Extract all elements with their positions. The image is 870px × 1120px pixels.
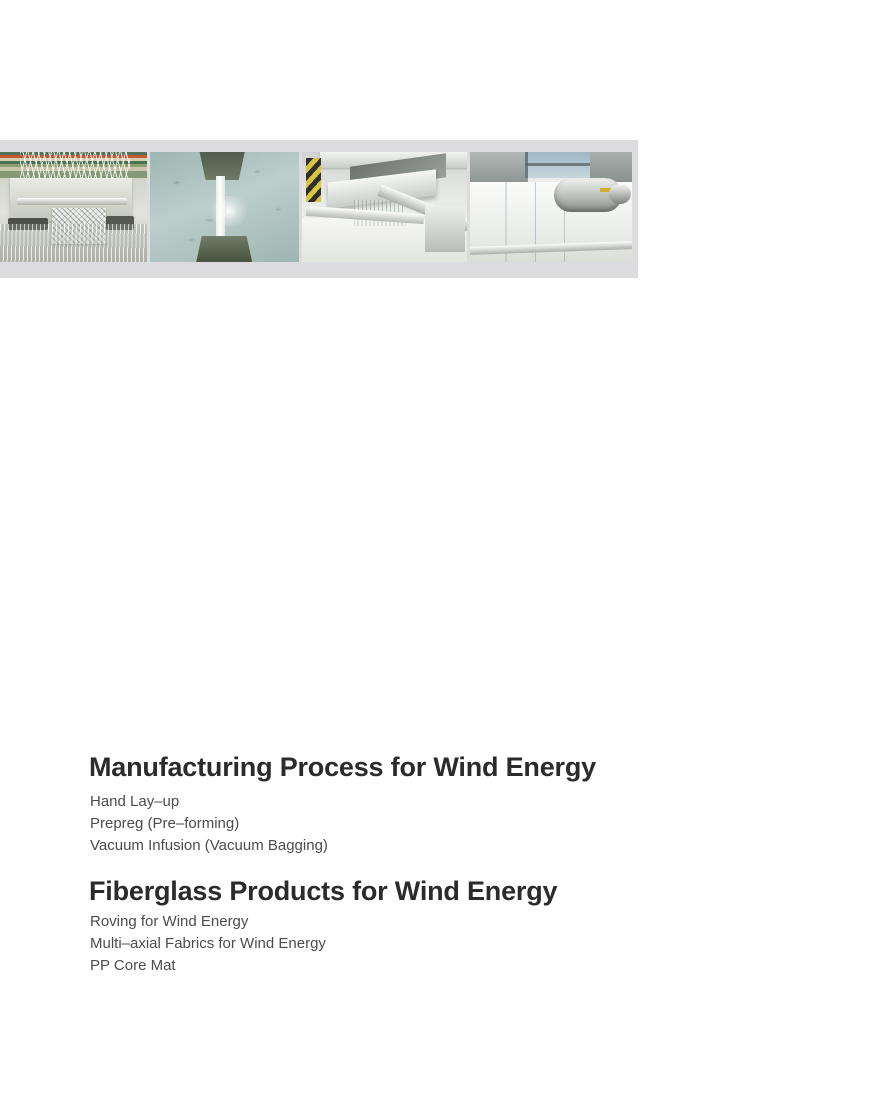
list-item: Prepreg (Pre–forming): [90, 813, 789, 835]
manufacturing-process-list: Hand Lay–up Prepreg (Pre–forming) Vacuum…: [89, 791, 789, 857]
list-item: Roving for Wind Energy: [90, 911, 789, 933]
section-manufacturing-process: Manufacturing Process for Wind Energy Ha…: [89, 752, 789, 857]
banner-strip: [0, 140, 638, 278]
content-block: Manufacturing Process for Wind Energy Ha…: [89, 752, 789, 977]
list-item: Multi–axial Fabrics for Wind Energy: [90, 933, 789, 955]
banner-photo-row: [0, 152, 632, 262]
specimen-highlight: [207, 196, 251, 226]
tensile-test-photo: [150, 152, 299, 262]
background-machinery-left: [470, 152, 528, 182]
list-item: Hand Lay–up: [90, 791, 789, 813]
right-machinery: [425, 206, 465, 252]
fabric-roll-photo: [470, 152, 632, 262]
chopped-strand-mat-line-photo: [302, 152, 467, 262]
hazard-stripe-post: [306, 158, 321, 202]
lower-test-jaw: [196, 236, 252, 262]
fiberglass-products-list: Roving for Wind Energy Multi–axial Fabri…: [89, 911, 789, 977]
section-fiberglass-products: Fiberglass Products for Wind Energy Rovi…: [89, 876, 789, 977]
guide-bar: [16, 198, 128, 205]
manufacturing-process-heading: Manufacturing Process for Wind Energy: [89, 752, 789, 784]
fiberglass-products-heading: Fiberglass Products for Wind Energy: [89, 876, 789, 908]
warp-threads: [0, 224, 147, 262]
list-item: PP Core Mat: [90, 955, 789, 977]
warp-knitting-machine-photo: [0, 152, 147, 262]
list-item: Vacuum Infusion (Vacuum Bagging): [90, 835, 789, 857]
window-frame: [525, 152, 590, 178]
